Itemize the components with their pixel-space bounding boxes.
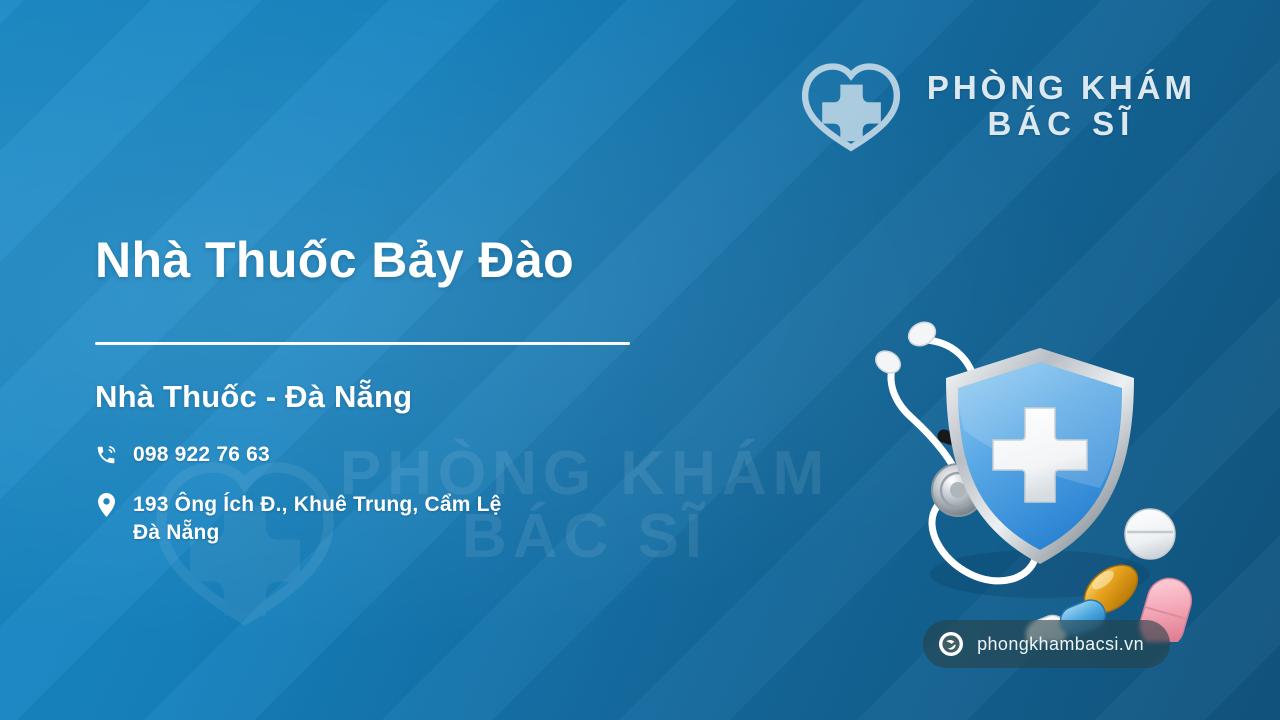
- brand-line-1: PHÒNG KHÁM: [927, 70, 1196, 106]
- brand-text: PHÒNG KHÁM BÁC SĨ: [927, 70, 1196, 143]
- info-panel: Nhà Thuốc Bảy Đào Nhà Thuốc - Đà Nẵng 09…: [95, 232, 855, 547]
- contact-phone-row[interactable]: 098 922 76 63: [95, 441, 855, 469]
- address-line-2: Đà Nẵng: [133, 521, 220, 544]
- contact-list: 098 922 76 63 193 Ông Ích Đ., Khuê Trung…: [95, 441, 855, 547]
- brand-line-2: BÁC SĨ: [927, 106, 1196, 142]
- contact-address-row[interactable]: 193 Ông Ích Đ., Khuê Trung, Cẩm Lệ Đà Nẵ…: [95, 491, 855, 547]
- shield-with-cross: [946, 348, 1134, 564]
- page-title: Nhà Thuốc Bảy Đào: [95, 232, 855, 288]
- stethoscope-shield-pills-illustration: [848, 312, 1228, 642]
- divider: [95, 342, 630, 345]
- map-pin-icon: [95, 492, 117, 518]
- banner-canvas: PHÒNG KHÁM BÁC SĨ PHÒNG KHÁM BÁC SĨ Nhà …: [0, 0, 1280, 720]
- subtitle: Nhà Thuốc - Đà Nẵng: [95, 379, 855, 415]
- brand-logo: PHÒNG KHÁM BÁC SĨ: [797, 58, 1196, 154]
- website-url: phongkhambacsi.vn: [977, 634, 1144, 655]
- address-line-1: 193 Ông Ích Đ., Khuê Trung, Cẩm Lệ: [133, 493, 502, 516]
- phone-ringing-icon: [95, 442, 117, 468]
- white-round-tablet: [1125, 509, 1175, 559]
- heart-medical-cross-icon: [797, 58, 905, 154]
- address-text: 193 Ông Ích Đ., Khuê Trung, Cẩm Lệ Đà Nẵ…: [133, 491, 502, 547]
- globe-icon: [938, 631, 964, 657]
- stethoscope-eartips: [872, 318, 940, 378]
- website-badge[interactable]: phongkhambacsi.vn: [923, 620, 1170, 668]
- phone-number: 098 922 76 63: [133, 441, 270, 469]
